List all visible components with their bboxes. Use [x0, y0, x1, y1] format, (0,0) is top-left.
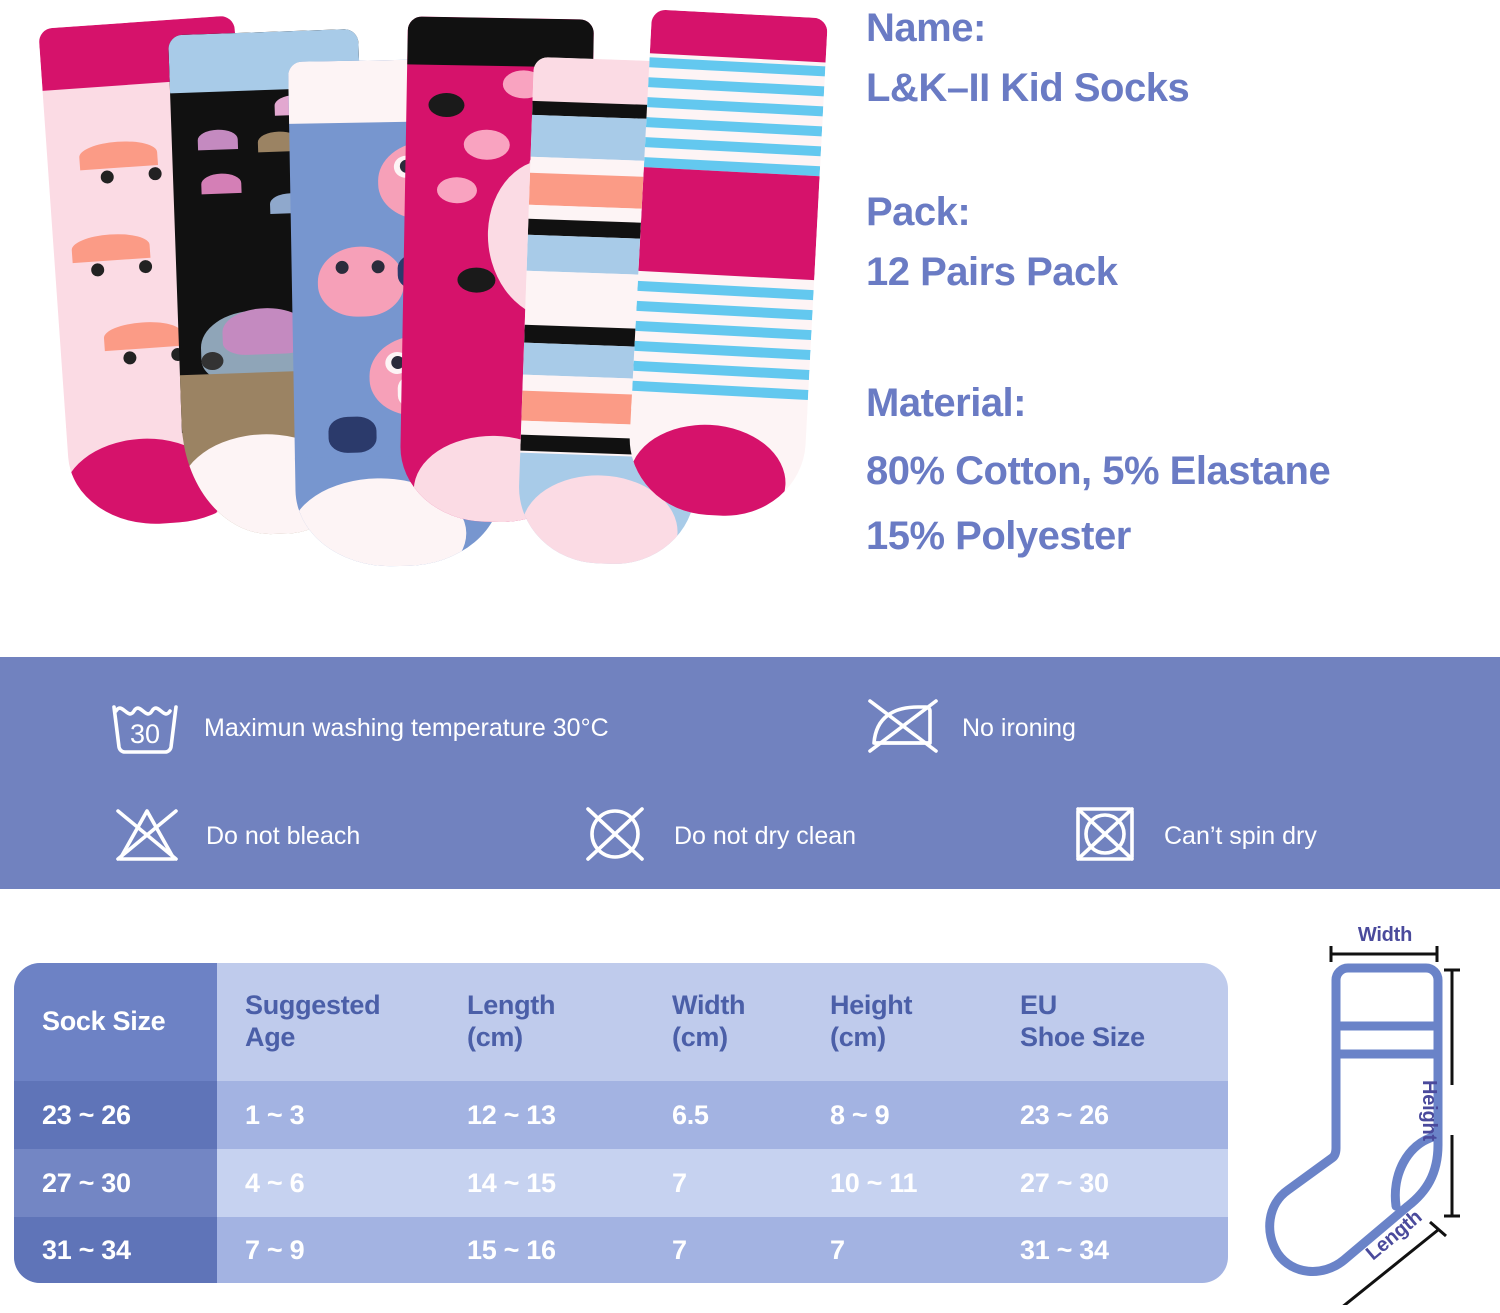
do-not-bleach-icon: [110, 803, 184, 870]
table-header-cell-length: Length (cm): [439, 963, 644, 1081]
material-label: Material:: [866, 383, 1026, 423]
care-instructions-band: 30 Maximun washing temperature 30°C No i…: [0, 657, 1500, 889]
sock-6-stripe: [634, 341, 810, 360]
table-header-text: (cm): [672, 1022, 802, 1054]
sock-6-stripe: [648, 77, 824, 96]
pack-value: 12 Pairs Pack: [866, 252, 1118, 292]
sock-1-motif: [71, 232, 151, 263]
table-header-text: Sock Size: [42, 1006, 217, 1038]
table-cell-width: 7: [644, 1217, 802, 1283]
product-hero-section: Name: L&K–II Kid Socks Pack: 12 Pairs Pa…: [0, 0, 1500, 657]
sock-6-cuff: [650, 9, 828, 62]
table-cell-length: 12 ~ 13: [439, 1081, 644, 1149]
product-photo: [10, 0, 850, 600]
sock-6-stripe: [647, 97, 823, 116]
table-header-cell-sock-size-label: Sock Size: [14, 963, 217, 1081]
sock-1-motif: [123, 351, 137, 365]
sock-4-dot: [428, 93, 464, 118]
sock-6-stripe: [645, 137, 821, 156]
wash-30-icon: 30: [108, 695, 182, 762]
table-header-cell-eu-shoe-size: EU Shoe Size: [992, 963, 1228, 1081]
table-header-text: EU: [1020, 990, 1228, 1022]
care-item-label: Do not bleach: [206, 822, 360, 851]
table-cell-suggested-age: 4 ~ 6: [217, 1149, 439, 1217]
sock-4-dot: [457, 267, 495, 293]
sock-6-cyan-stripes: [626, 9, 832, 518]
sock-1-motif: [139, 260, 153, 274]
do-not-dry-clean-icon: [578, 803, 652, 870]
sock-measurement-diagram: Width Height Length: [1240, 930, 1500, 1305]
sock-6-foot: [626, 403, 807, 520]
table-cell-height: 8 ~ 9: [802, 1081, 992, 1149]
care-item-do-not-dry-clean: Do not dry clean: [578, 803, 856, 870]
sock-1-motif: [78, 139, 158, 170]
table-header-text: (cm): [467, 1022, 644, 1054]
sock-6-stripe: [635, 321, 811, 340]
table-cell-sock-size-label: 23 ~ 26: [14, 1081, 217, 1149]
care-item-no-spin-dry: Can’t spin dry: [1068, 803, 1317, 870]
sock-6-stripe: [646, 117, 822, 136]
sock-3-owl: [317, 246, 404, 317]
sock-1-motif: [148, 167, 162, 181]
table-header-text: Height: [830, 990, 992, 1022]
sock-1-motif: [103, 320, 183, 351]
wash-temperature-text: 30: [130, 719, 160, 749]
table-header-text: (cm): [830, 1022, 992, 1054]
table-cell-length: 15 ~ 16: [439, 1217, 644, 1283]
no-spin-dry-icon: [1068, 803, 1142, 870]
sock-2-heart: [197, 129, 238, 150]
table-cell-eu-shoe-size: 23 ~ 26: [992, 1081, 1228, 1149]
sock-4-dot: [464, 129, 511, 160]
care-item-label: Can’t spin dry: [1164, 822, 1317, 851]
sock-6-stripe: [636, 301, 812, 320]
table-cell-length: 14 ~ 15: [439, 1149, 644, 1217]
table-header-text: Suggested: [245, 990, 439, 1022]
table-cell-sock-size-label: 27 ~ 30: [14, 1149, 217, 1217]
name-value: L&K–II Kid Socks: [866, 68, 1189, 108]
size-table: Sock Size Suggested Age Length (cm) Widt…: [14, 963, 1228, 1283]
table-header-text: Shoe Size: [1020, 1022, 1228, 1054]
sock-4-dot: [437, 177, 477, 204]
care-item-label: Maximun washing temperature 30°C: [204, 714, 609, 743]
sock-6-stripe: [633, 361, 809, 380]
sock-6-toe: [627, 421, 789, 520]
table-cell-eu-shoe-size: 27 ~ 30: [992, 1149, 1228, 1217]
table-cell-suggested-age: 1 ~ 3: [217, 1081, 439, 1149]
sock-6-leg: [631, 9, 828, 418]
table-cell-height: 7: [802, 1217, 992, 1283]
material-value-line-1: 80% Cotton, 5% Elastane: [866, 451, 1330, 491]
sock-3-paw: [328, 416, 377, 453]
care-item-wash-30: 30 Maximun washing temperature 30°C: [108, 695, 609, 762]
pack-label: Pack:: [866, 192, 970, 232]
table-header-text: Age: [245, 1022, 439, 1054]
sock-1-motif: [91, 263, 105, 277]
product-info-block: Name: L&K–II Kid Socks Pack: 12 Pairs Pa…: [866, 0, 1486, 620]
table-header-text: Width: [672, 990, 802, 1022]
table-header-cell-suggested-age: Suggested Age: [217, 963, 439, 1081]
name-label: Name:: [866, 8, 986, 48]
no-ironing-icon: [866, 695, 940, 762]
table-cell-suggested-age: 7 ~ 9: [217, 1217, 439, 1283]
care-item-label: Do not dry clean: [674, 822, 856, 851]
table-cell-width: 6.5: [644, 1081, 802, 1149]
table-header-cell-height: Height (cm): [802, 963, 992, 1081]
material-value-line-2: 15% Polyester: [866, 516, 1131, 556]
table-header-cell-width: Width (cm): [644, 963, 802, 1081]
sock-2-heart: [201, 173, 242, 194]
sock-6-heel: [638, 167, 819, 280]
care-item-do-not-bleach: Do not bleach: [110, 803, 360, 870]
table-cell-height: 10 ~ 11: [802, 1149, 992, 1217]
sock-1-motif: [100, 170, 114, 184]
sock-6-stripe: [632, 381, 808, 400]
table-cell-eu-shoe-size: 31 ~ 34: [992, 1217, 1228, 1283]
table-cell-sock-size-label: 31 ~ 34: [14, 1217, 217, 1283]
table-header-text: Length: [467, 990, 644, 1022]
care-item-no-ironing: No ironing: [866, 695, 1076, 762]
height-dimension-label: Height: [1417, 1080, 1440, 1141]
care-item-label: No ironing: [962, 714, 1076, 743]
width-dimension-label: Width: [1342, 924, 1428, 947]
table-cell-width: 7: [644, 1149, 802, 1217]
sock-6-stripe: [637, 281, 813, 300]
